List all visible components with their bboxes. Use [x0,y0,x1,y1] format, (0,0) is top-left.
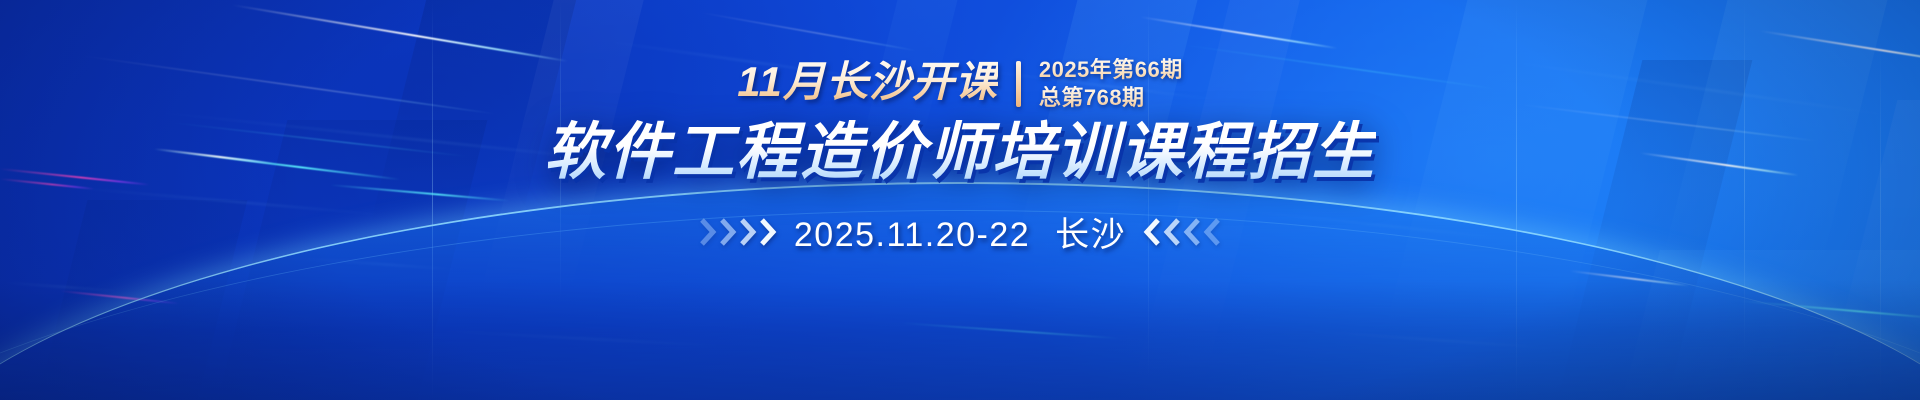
headline-row: 11月长沙开课 2025年第66期 总第768期 [737,58,1183,110]
chevron-left-icon [1162,217,1180,247]
left-arrows-group [700,217,778,247]
chevron-right-icon [740,217,758,247]
issue-info: 2025年第66期 总第768期 [1039,58,1183,110]
issue-line-1: 2025年第66期 [1039,58,1183,83]
kicker-text: 11月长沙开课 [737,59,998,109]
promo-banner: 11月长沙开课 2025年第66期 总第768期 软件工程造价师培训课程招生 [0,0,1920,400]
chevron-left-icon [1182,217,1200,247]
date-row: 2025.11.20-22 长沙 [700,207,1220,256]
vertical-divider [1016,61,1021,107]
chevron-left-icon [1202,217,1220,247]
banner-content: 11月长沙开课 2025年第66期 总第768期 软件工程造价师培训课程招生 [0,0,1920,400]
page-title: 软件工程造价师培训课程招生 [544,116,1376,195]
issue-line-2: 总第768期 [1039,86,1183,111]
event-city: 长沙 [1055,216,1126,254]
chevron-right-icon [760,217,778,247]
right-arrows-group [1142,217,1220,247]
event-date-city: 2025.11.20-22 长沙 [794,207,1126,256]
chevron-right-icon [700,217,718,247]
event-date: 2025.11.20-22 [794,216,1030,254]
chevron-right-icon [720,217,738,247]
chevron-left-icon [1142,217,1160,247]
